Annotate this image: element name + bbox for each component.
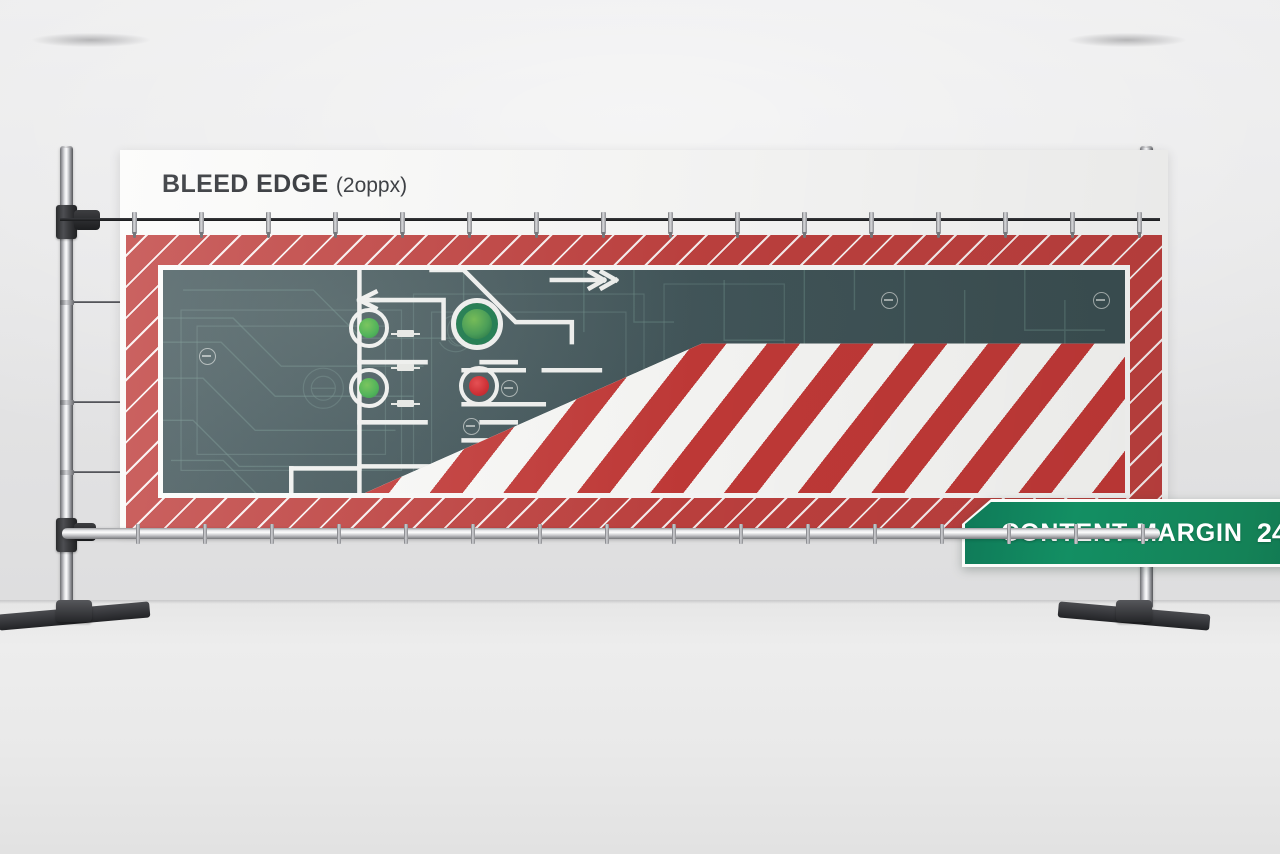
banner-hook [936,212,941,234]
bleed-edge-label: BLEED EDGE [162,170,329,198]
banner-hook [802,212,807,234]
bleed-edge-measure: (2oppx) [336,174,407,197]
pole-joint-ring [60,470,74,475]
base-foot-right [1058,592,1208,638]
base-foot-left [0,592,148,638]
banner-mockup-scene: BLEED EDGE (2oppx) [0,0,1280,854]
pole-joint-ring [60,300,74,305]
banner-hook [668,212,673,234]
resistor-chip [397,364,414,371]
banner-hook [471,524,475,544]
banner-hook [400,212,405,234]
foot-shadow [8,30,174,50]
banner-hook [1003,212,1008,234]
banner-hook [132,212,137,234]
banner-hook [601,212,606,234]
banner-hook [672,524,676,544]
banner-hook [538,524,542,544]
banner-hook [136,524,140,544]
content-margin-measure: 24opx [1257,518,1280,549]
banner-hook [404,524,408,544]
led-indicator [359,378,379,398]
resistor-chip [397,330,414,337]
node-green-top-left[interactable] [349,308,389,348]
banner-hook [940,524,944,544]
led-indicator [469,376,489,396]
banner-hook [1070,212,1075,234]
resistor-chip [397,400,414,407]
bottom-tube-rail [62,528,1160,539]
banner-hook [203,524,207,544]
artwork-canvas: SAFE AREA 160PX X/19 COORDINATS: 1280, 8… [163,270,1125,493]
banner-hook [270,524,274,544]
bleed-hatch-frame: SAFE AREA 160PX X/19 COORDINATS: 1280, 8… [126,235,1162,528]
circuit-pad-icon [463,418,480,435]
circuit-pad-icon [881,292,898,309]
node-green-bottom-left[interactable] [349,368,389,408]
circuit-pad-icon [1093,292,1110,309]
banner-hook [806,524,810,544]
banner-artwork-panel[interactable]: BLEED EDGE (2oppx) [120,150,1168,532]
top-cable-rail [60,218,1160,221]
banner-hook [199,212,204,234]
led-indicator [462,309,492,339]
banner-hook [1007,524,1011,544]
banner-hook [333,212,338,234]
banner-hook [337,524,341,544]
node-red[interactable] [459,366,499,406]
foot-hub [56,600,92,622]
safe-area-gutter: SAFE AREA 160PX X/19 COORDINATS: 1280, 8… [158,265,1130,498]
banner-hook [869,212,874,234]
led-indicator [359,318,379,338]
banner-hook [266,212,271,234]
circuit-pad-icon [199,348,216,365]
banner-hook [1137,212,1142,234]
banner-hook [735,212,740,234]
node-green-large[interactable] [451,298,503,350]
foot-shadow [1044,30,1210,50]
banner-hook [605,524,609,544]
foot-hub [1116,600,1152,622]
circuit-pad-icon [501,380,518,397]
banner-hook [467,212,472,234]
banner-hook [1074,524,1078,544]
banner-hook [1141,524,1145,544]
banner-hook [873,524,877,544]
banner-hook [739,524,743,544]
floor-surface [0,600,1280,854]
banner-hook [534,212,539,234]
bleed-edge-title: BLEED EDGE (2oppx) [162,170,407,199]
pole-joint-ring [60,400,74,405]
